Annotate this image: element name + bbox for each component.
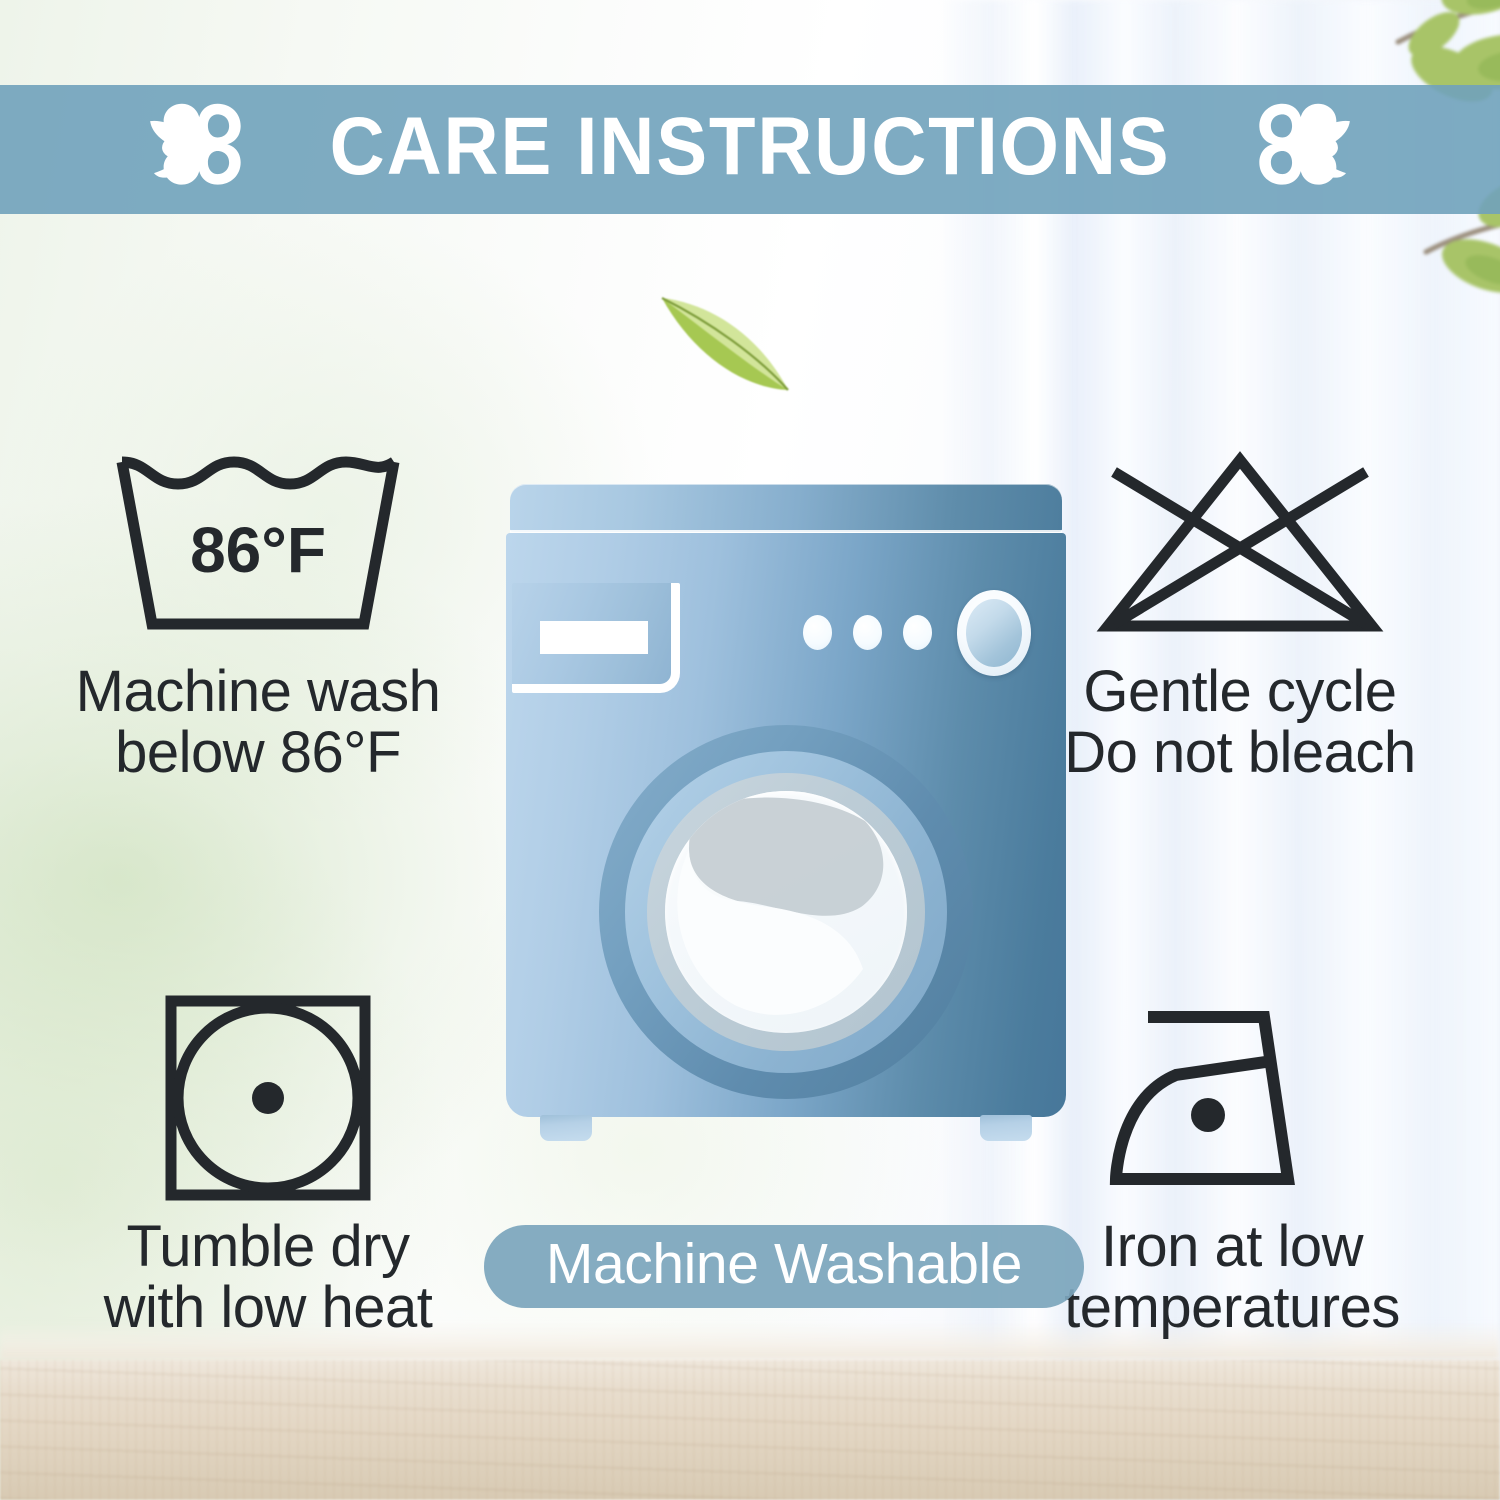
care-item-gentle-cycle-no-bleach: Gentle cycle Do not bleach — [1020, 440, 1460, 784]
machine-door-glass — [665, 791, 907, 1033]
badge-label: Machine Washable — [546, 1236, 1022, 1298]
care-item-caption: Iron at low temperatures — [1064, 1216, 1400, 1339]
machine-washable-badge: Machine Washable — [484, 1225, 1084, 1308]
indicator-light — [803, 615, 832, 650]
care-item-machine-wash: 86°F Machine wash below 86°F — [38, 440, 478, 784]
machine-foot — [980, 1115, 1032, 1141]
iron-low-temperature-icon — [1104, 995, 1360, 1200]
indicator-light — [853, 615, 882, 650]
floating-leaf-icon — [648, 276, 828, 416]
machine-body — [506, 533, 1066, 1117]
program-knob — [957, 590, 1031, 676]
page-title: CARE INSTRUCTIONS — [330, 106, 1171, 194]
fleur-de-lis-icon — [1236, 98, 1352, 202]
indicator-light — [903, 615, 932, 650]
machine-door-outer-ring — [599, 725, 973, 1099]
care-item-caption: Machine wash below 86°F — [76, 661, 441, 784]
care-item-tumble-dry-low: Tumble dry with low heat — [48, 995, 488, 1339]
machine-top-panel — [510, 484, 1062, 532]
washing-machine-illustration — [506, 484, 1066, 1159]
care-item-caption: Gentle cycle Do not bleach — [1064, 661, 1415, 784]
fleur-de-lis-icon — [148, 98, 264, 202]
machine-door-inner-ring — [647, 773, 925, 1051]
machine-door-mid-ring — [625, 751, 947, 1073]
header-banner: CARE INSTRUCTIONS — [0, 85, 1500, 214]
detergent-drawer-slot — [540, 621, 648, 654]
care-instructions-infographic: CARE INSTRUCTIONS — [0, 0, 1500, 1500]
indicator-lights — [803, 615, 932, 650]
detergent-drawer — [512, 583, 680, 693]
do-not-bleach-triangle-icon — [1090, 440, 1390, 645]
wash-temperature-value: 86°F — [190, 514, 326, 586]
tumble-dry-low-icon — [163, 995, 373, 1200]
machine-foot — [540, 1115, 592, 1141]
program-knob-inner — [966, 599, 1022, 667]
wash-tub-icon: 86°F — [108, 440, 408, 645]
wooden-table-surface — [0, 1360, 1500, 1500]
care-item-caption: Tumble dry with low heat — [104, 1216, 433, 1339]
door-glass-reflection — [665, 791, 907, 1033]
